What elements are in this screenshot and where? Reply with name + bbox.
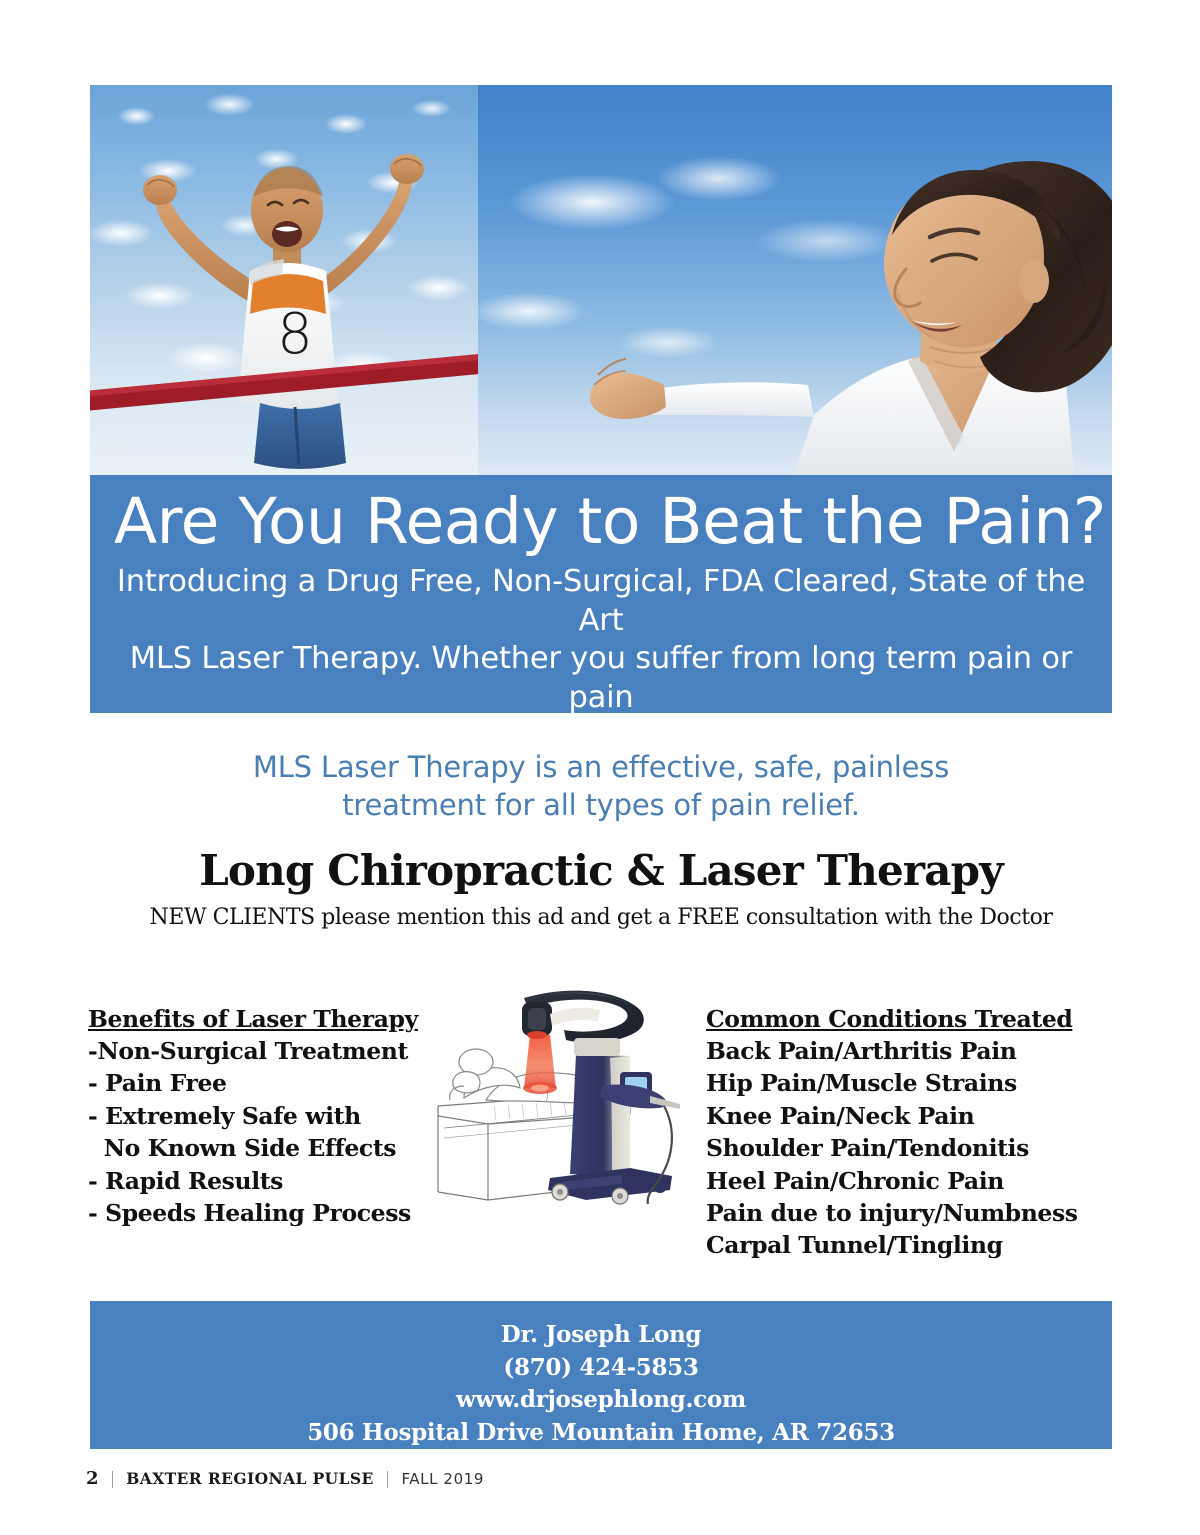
hero-subtitle-line-2: MLS Laser Therapy. Whether you suffer fr… bbox=[114, 640, 1088, 717]
footer-separator-2: | bbox=[374, 1469, 402, 1489]
phone-number[interactable]: (870) 424-5853 bbox=[90, 1352, 1112, 1385]
mls-tagline-line-2: treatment for all types of pain relief. bbox=[90, 786, 1112, 824]
magazine-ad-page: 8 bbox=[0, 0, 1200, 1535]
woman-figure-icon bbox=[478, 85, 1112, 475]
conditions-item: Shoulder Pain/Tendonitis bbox=[706, 1132, 1106, 1164]
conditions-item: Back Pain/Arthritis Pain bbox=[706, 1035, 1106, 1067]
conditions-column: Common Conditions Treated Back Pain/Arth… bbox=[706, 1004, 1106, 1262]
website-url[interactable]: www.drjosephlong.com bbox=[90, 1384, 1112, 1417]
benefits-item: - Pain Free bbox=[88, 1067, 438, 1099]
conditions-item: Hip Pain/Muscle Strains bbox=[706, 1067, 1106, 1099]
laser-therapy-device-icon bbox=[424, 978, 704, 1213]
laser-device-illustration bbox=[424, 978, 704, 1213]
svg-text:8: 8 bbox=[277, 302, 313, 367]
hero-photo-strip: 8 bbox=[90, 85, 1112, 475]
mls-tagline-line-1: MLS Laser Therapy is an effective, safe,… bbox=[90, 748, 1112, 786]
doctor-name: Dr. Joseph Long bbox=[90, 1319, 1112, 1352]
hero-title: Are You Ready to Beat the Pain?! bbox=[114, 485, 1088, 559]
runner-figure-icon: 8 bbox=[90, 85, 478, 475]
page-footer: 2 | BAXTER REGIONAL PULSE | FALL 2019 bbox=[86, 1468, 484, 1489]
hero-subtitle-line-1: Introducing a Drug Free, Non-Surgical, F… bbox=[114, 563, 1088, 640]
conditions-item: Pain due to injury/Numbness bbox=[706, 1197, 1106, 1229]
new-client-offer: NEW CLIENTS please mention this ad and g… bbox=[90, 903, 1112, 933]
conditions-item: Carpal Tunnel/Tingling bbox=[706, 1229, 1106, 1261]
mls-tagline: MLS Laser Therapy is an effective, safe,… bbox=[90, 748, 1112, 824]
conditions-heading: Common Conditions Treated bbox=[706, 1004, 1106, 1035]
benefits-item: -Non-Surgical Treatment bbox=[88, 1035, 438, 1067]
benefits-item: No Known Side Effects bbox=[88, 1132, 438, 1164]
headline-banner: Are You Ready to Beat the Pain?! Introdu… bbox=[90, 475, 1112, 713]
benefits-item: - Rapid Results bbox=[88, 1165, 438, 1197]
practice-name: Long Chiropractic & Laser Therapy bbox=[90, 845, 1112, 897]
footer-separator-1: | bbox=[99, 1469, 127, 1489]
page-number: 2 bbox=[86, 1468, 99, 1489]
publication-name: BAXTER REGIONAL PULSE bbox=[126, 1469, 373, 1488]
contact-footer-box: Dr. Joseph Long (870) 424-5853 www.drjos… bbox=[90, 1301, 1112, 1449]
runner-photo: 8 bbox=[90, 85, 478, 475]
hero-subtitle: Introducing a Drug Free, Non-Surgical, F… bbox=[114, 563, 1088, 756]
conditions-item: Knee Pain/Neck Pain bbox=[706, 1100, 1106, 1132]
benefits-column: Benefits of Laser Therapy -Non-Surgical … bbox=[88, 1004, 438, 1229]
issue-label: FALL 2019 bbox=[401, 1470, 484, 1488]
conditions-item: Heel Pain/Chronic Pain bbox=[706, 1165, 1106, 1197]
benefits-item: - Speeds Healing Process bbox=[88, 1197, 438, 1229]
benefits-item: - Extremely Safe with bbox=[88, 1100, 438, 1132]
woman-photo bbox=[478, 85, 1112, 475]
street-address: 506 Hospital Drive Mountain Home, AR 726… bbox=[90, 1417, 1112, 1450]
benefits-heading: Benefits of Laser Therapy bbox=[88, 1004, 438, 1035]
